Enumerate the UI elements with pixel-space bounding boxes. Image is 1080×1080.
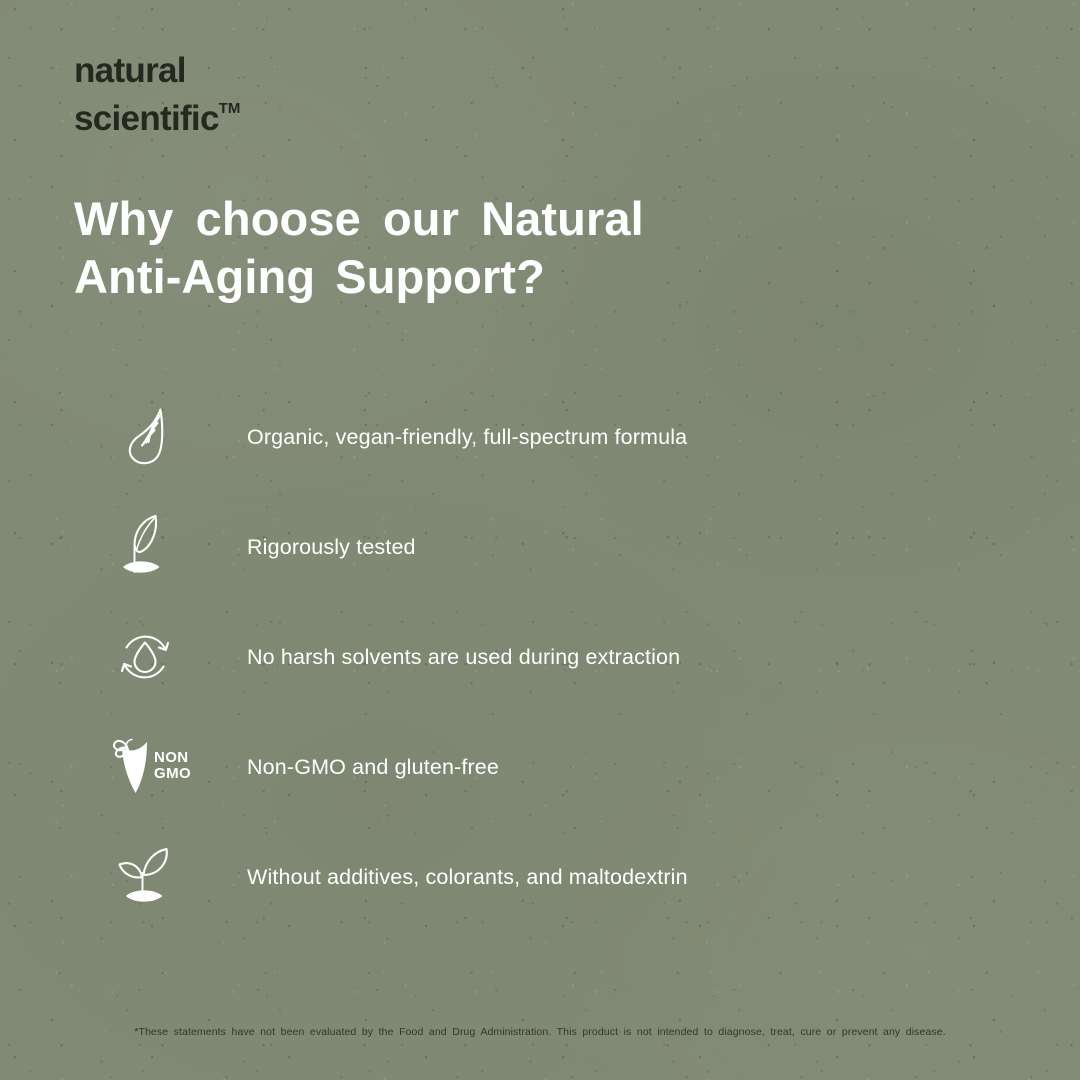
fda-disclaimer: *These statements have not been evaluate… [0,1026,1080,1038]
leaf-droplet-icon [110,402,180,472]
brand-logo-word: scientific [74,99,219,138]
feature-label: Organic, vegan-friendly, full-spectrum f… [247,425,687,450]
brand-logo-line-1: natural [74,52,240,90]
two-leaf-sprout-icon [106,842,182,912]
promo-card: natural scientificTM Why choose our Natu… [0,0,1080,1080]
brand-logo: natural scientificTM [74,52,240,138]
feature-label: Without additives, colorants, and maltod… [247,865,688,890]
non-gmo-badge-line-1: NON [154,749,189,766]
feature-label: Non-GMO and gluten-free [247,755,499,780]
non-gmo-icon: NON GMO [104,732,196,802]
feather-leaf-sprout-icon [110,512,180,582]
feature-row: No harsh solvents are used during extrac… [0,602,1080,712]
page-title: Why choose our Natural Anti-Aging Suppor… [74,190,834,306]
feature-label: Rigorously tested [247,535,416,560]
feature-row: Rigorously tested [0,492,1080,602]
droplet-recycle-icon [110,622,180,692]
page-title-line-1: Why choose our Natural [74,190,834,248]
feature-row: Organic, vegan-friendly, full-spectrum f… [0,382,1080,492]
feature-row: Without additives, colorants, and maltod… [0,822,1080,932]
feature-list: Organic, vegan-friendly, full-spectrum f… [0,382,1080,932]
trademark-symbol: TM [219,100,241,117]
page-title-line-2: Anti-Aging Support? [74,248,834,306]
brand-logo-line-2: scientificTM [74,90,240,138]
non-gmo-badge-line-2: GMO [154,765,191,782]
feature-row: NON GMO Non-GMO and gluten-free [0,712,1080,822]
feature-label: No harsh solvents are used during extrac… [247,645,680,670]
